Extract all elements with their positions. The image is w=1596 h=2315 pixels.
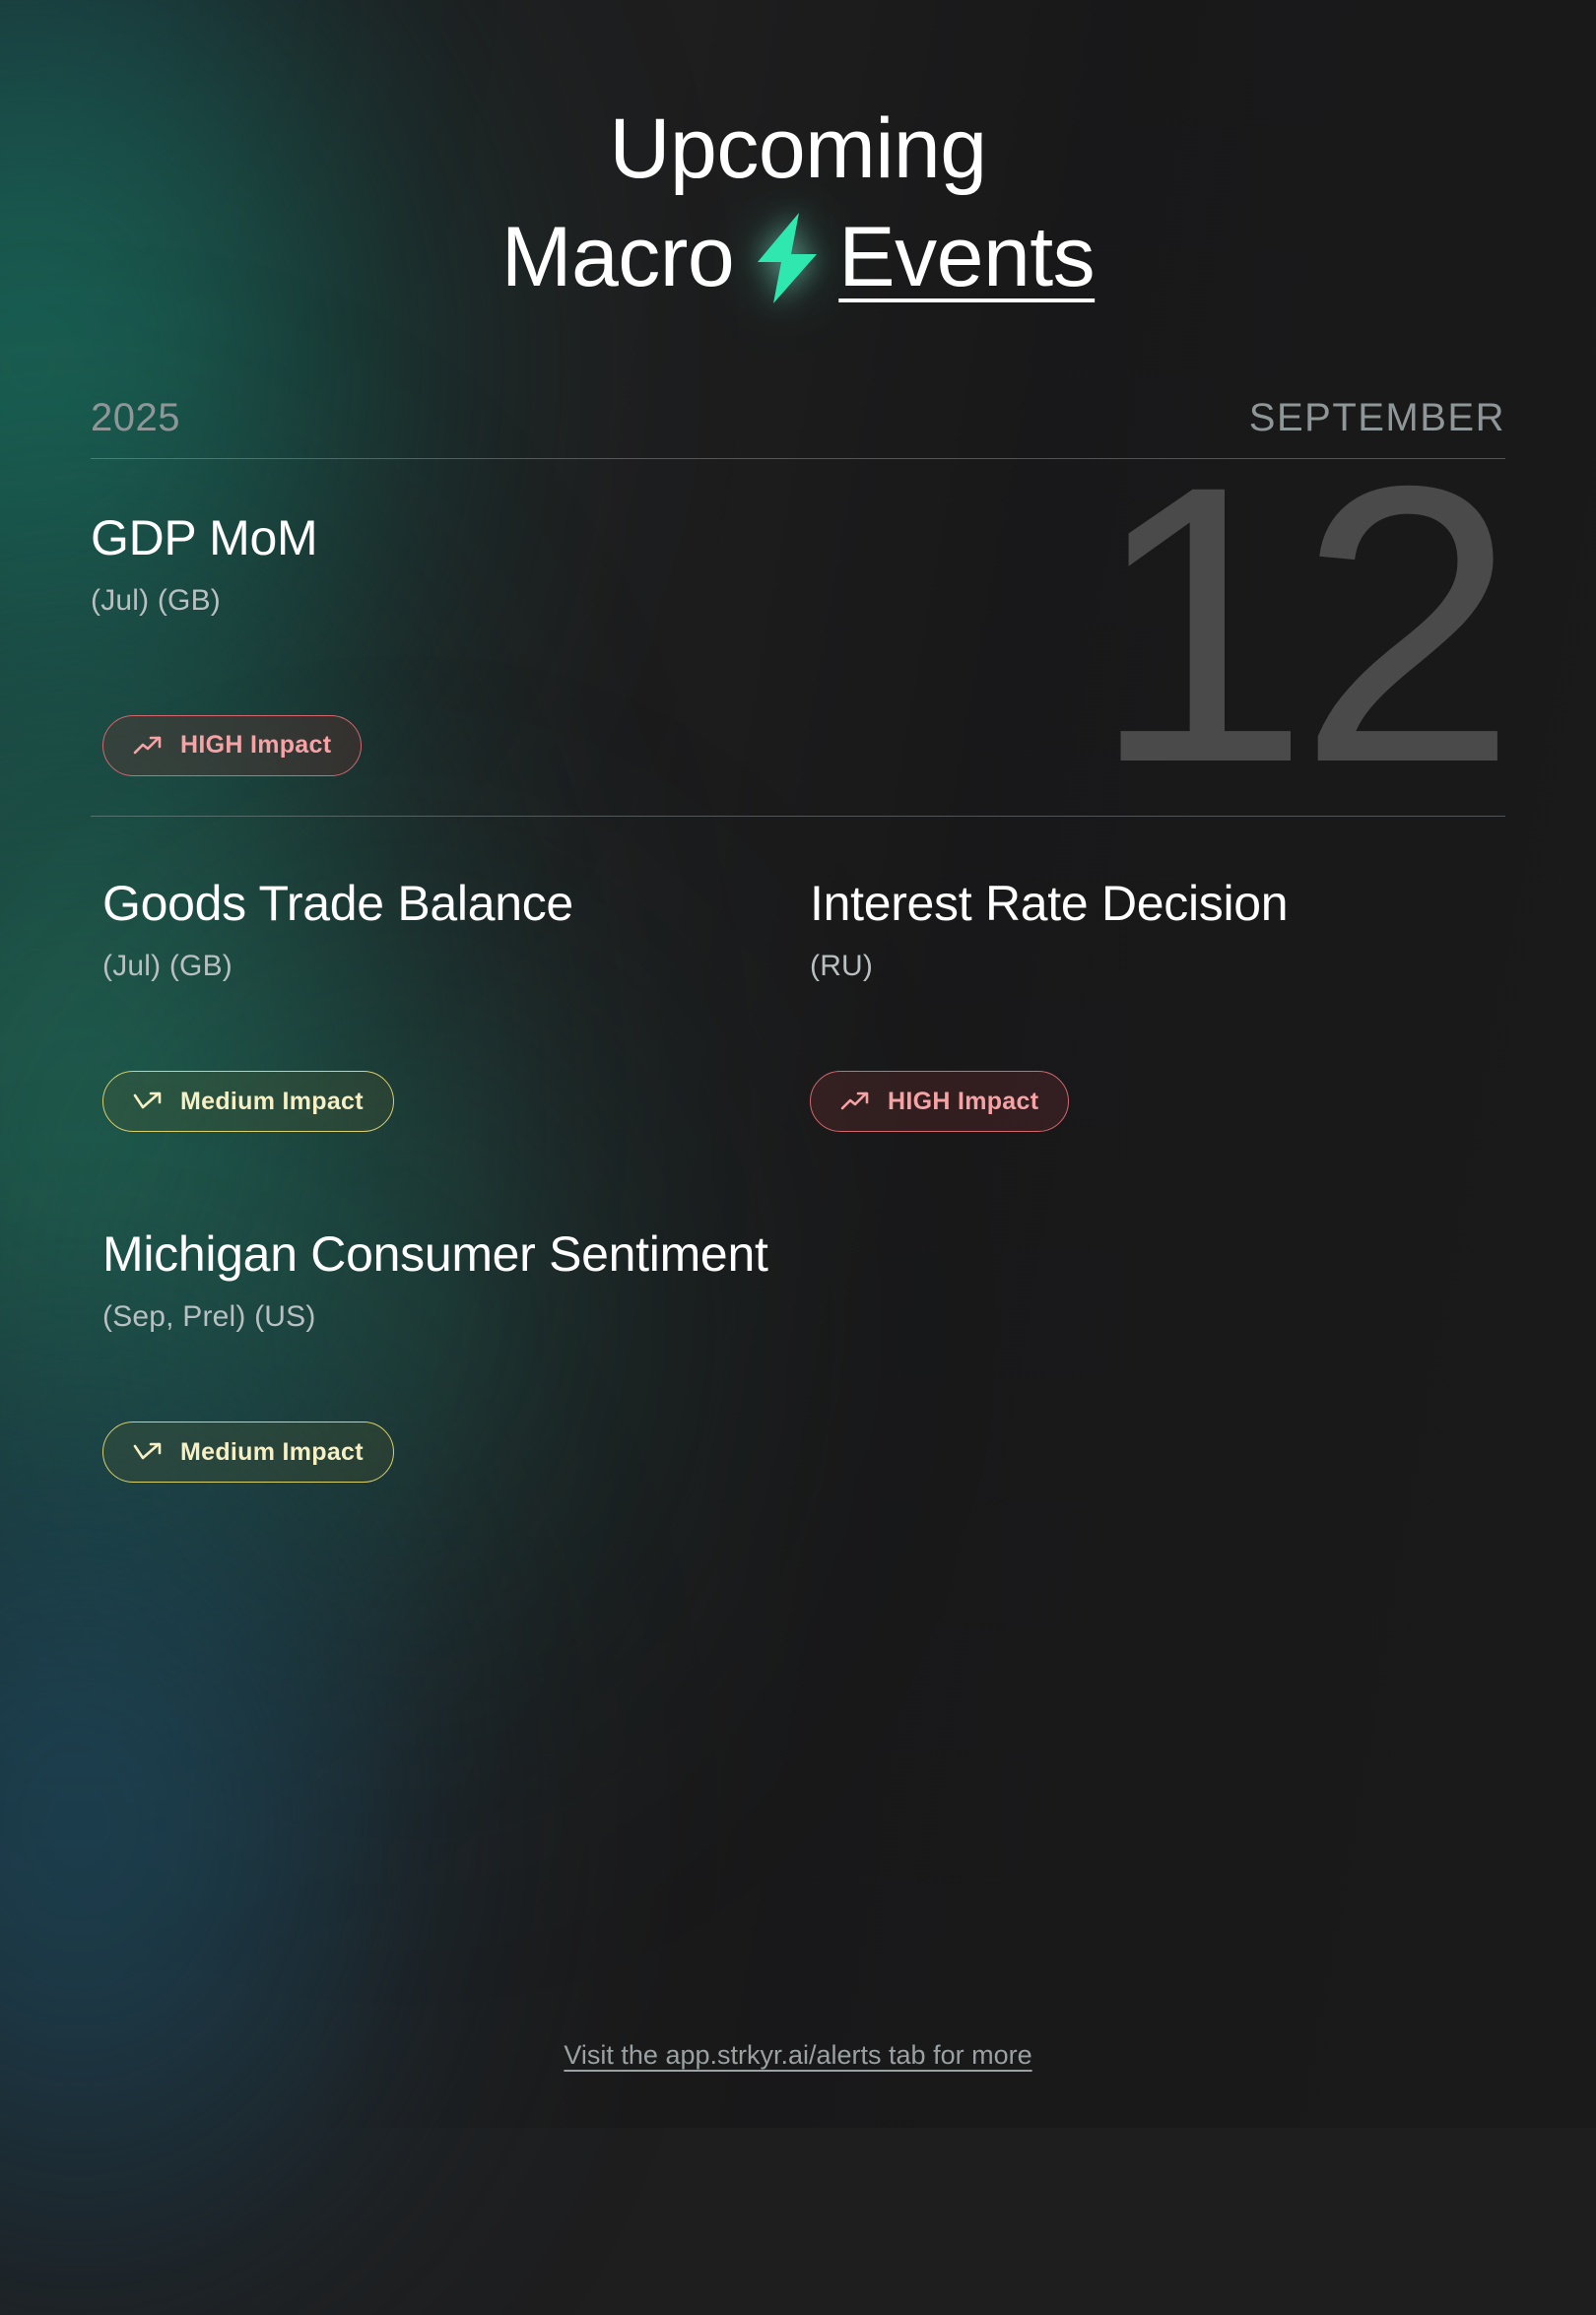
- event-title: Michigan Consumer Sentiment: [102, 1223, 780, 1287]
- featured-event-card[interactable]: GDP MoM (Jul) (GB) HIGH Impact: [91, 459, 1505, 794]
- event-title: GDP MoM: [91, 506, 1505, 570]
- event-subtitle: (Jul) (GB): [91, 584, 1505, 618]
- status-badge-wrap: HIGH Impact: [102, 715, 362, 776]
- status-badge-high-impact[interactable]: HIGH Impact: [102, 715, 362, 776]
- poster-header: Upcoming Macro Events: [0, 0, 1596, 305]
- lightning-bolt-icon: [744, 211, 829, 305]
- event-subtitle: (Jul) (GB): [102, 950, 780, 983]
- event-subtitle: (Sep, Prel) (US): [102, 1300, 780, 1334]
- trending-down-up-arrow-icon: [133, 1441, 163, 1463]
- poster-footer: Visit the app.strkyr.ai/alerts tab for m…: [0, 2040, 1596, 2071]
- footer-link[interactable]: Visit the app.strkyr.ai/alerts tab for m…: [564, 2040, 1031, 2070]
- status-badge-label: Medium Impact: [180, 1088, 364, 1116]
- trending-down-up-arrow-icon: [133, 1091, 163, 1112]
- status-badge-medium-impact[interactable]: Medium Impact: [102, 1071, 394, 1132]
- day-section: 12 GDP MoM (Jul) (GB) HIGH Impact: [91, 459, 1505, 794]
- page-title-macro-word: Macro: [501, 215, 734, 301]
- status-badge-label: HIGH Impact: [180, 731, 331, 760]
- event-card[interactable]: Michigan Consumer Sentiment (Sep, Prel) …: [91, 1167, 798, 1518]
- poster-page: Upcoming Macro Events 2025 SEPTEMBER 12 …: [0, 0, 1596, 2128]
- status-badge-high-impact[interactable]: HIGH Impact: [810, 1071, 1069, 1132]
- events-grid: Goods Trade Balance (Jul) (GB) Medium Im…: [91, 817, 1505, 1518]
- event-card-empty: [798, 1167, 1505, 1518]
- page-title-events-word: Events: [838, 215, 1095, 301]
- page-title-line-2: Macro Events: [0, 211, 1596, 305]
- trending-up-arrow-icon: [840, 1091, 870, 1112]
- status-badge-label: Medium Impact: [180, 1438, 364, 1467]
- event-title: Goods Trade Balance: [102, 872, 780, 936]
- status-badge-label: HIGH Impact: [888, 1088, 1038, 1116]
- event-title: Interest Rate Decision: [810, 872, 1488, 936]
- trending-up-arrow-icon: [133, 735, 163, 757]
- year-label: 2025: [91, 396, 180, 440]
- event-card[interactable]: Goods Trade Balance (Jul) (GB) Medium Im…: [91, 817, 798, 1167]
- event-subtitle: (RU): [810, 950, 1488, 983]
- page-title-line-1: Upcoming: [0, 106, 1596, 193]
- event-card[interactable]: Interest Rate Decision (RU) HIGH Impact: [798, 817, 1505, 1167]
- status-badge-medium-impact[interactable]: Medium Impact: [102, 1422, 394, 1483]
